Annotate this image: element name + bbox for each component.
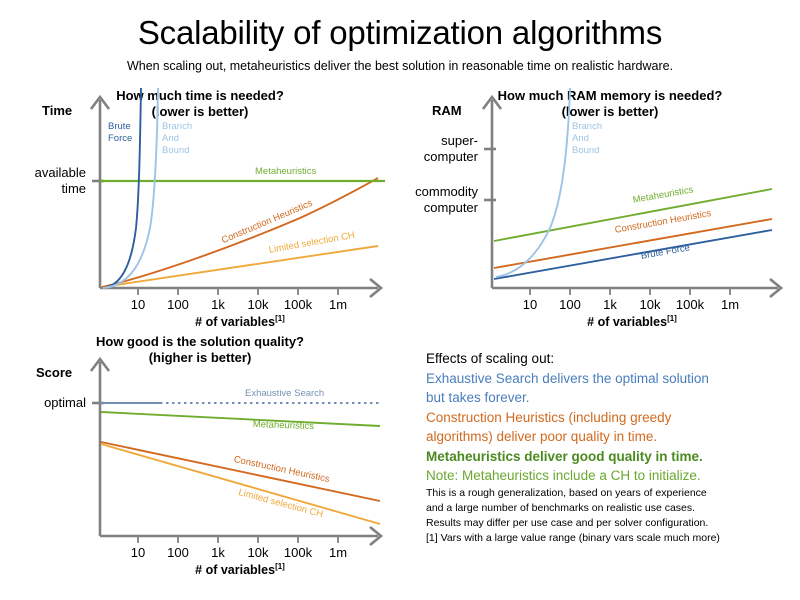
yaxis-title-score: Score [36,365,72,380]
infographic-page: Scalability of optimization algorithms W… [0,0,800,600]
xtick-label-time-1: 100 [167,297,189,312]
xtick-label-ram-0: 10 [523,297,537,312]
notes-disclaimer-line1: This is a rough generalization, based on… [426,486,792,501]
xtick-label-time-3: 10k [248,297,269,312]
page-title: Scalability of optimization algorithms [0,14,800,52]
xtick-label-time-0: 10 [131,297,145,312]
xtick-label-ram-1: 100 [559,297,581,312]
notes-disclaimer-line3: Results may differ per use case and per … [426,516,792,531]
series-label-score-exhaustive-search: Exhaustive Search [245,388,324,399]
xaxis-title-score: # of variables[1] [195,562,285,577]
series-label-ram-branch-and-bound: BranchAndBound [572,121,602,157]
series-label-score-metaheuristics: Metaheuristics [253,419,315,432]
ytick-label-available-time: availabletime [0,165,86,197]
xtick-label-ram-5: 1m [721,297,739,312]
notes-footnote: [1] Vars with a large value range (binar… [426,531,792,546]
chart-panel-time: How much time is needed? (lower is bette… [0,88,400,328]
notes-green-bold: Metaheuristics deliver good quality in t… [426,447,792,467]
xaxis-title-time-footnote: [1] [275,314,285,323]
xaxis-title-ram: # of variables[1] [587,314,677,329]
notes-blue-line1: Exhaustive Search delivers the optimal s… [426,369,792,389]
xtick-label-ram-2: 1k [603,297,617,312]
series-line-score-metaheuristics [101,412,380,426]
series-label-time-brute-force: BruteForce [108,121,132,145]
series-line-ram-brute-force [494,230,772,279]
xaxis-title-score-footnote: [1] [275,562,285,571]
chart-panel-ram: How much RAM memory is needed? (lower is… [400,88,800,328]
chart-panel-score: How good is the solution quality? (highe… [0,334,400,584]
page-subtitle: When scaling out, metaheuristics deliver… [0,59,800,73]
notes-heading: Effects of scaling out: [426,349,792,369]
xtick-label-time-5: 1m [329,297,347,312]
series-label-time-branch-and-bound: BranchAndBound [162,121,192,157]
xtick-label-time-2: 1k [211,297,225,312]
axis-lines-score [91,359,381,545]
notes-blue-line2: but takes forever. [426,388,792,408]
xtick-label-score-5: 1m [329,545,347,560]
series-label-time-metaheuristics: Metaheuristics [255,166,316,177]
yaxis-title-time: Time [42,103,72,118]
chart-canvas-time [0,88,400,328]
xtick-label-time-4: 100k [284,297,312,312]
notes-green-note: Note: Metaheuristics include a CH to ini… [426,466,792,486]
xaxis-title-score-text: # of variables [195,563,275,577]
xtick-label-score-1: 100 [167,545,189,560]
ytick-label-supercomputer: super-computer [394,133,478,165]
notes-orange-line2: algorithms) deliver poor quality in time… [426,427,792,447]
ytick-label-commodity-computer: commoditycomputer [388,184,478,216]
xtick-label-ram-3: 10k [640,297,661,312]
xtick-label-score-0: 10 [131,545,145,560]
xaxis-title-time-text: # of variables [195,315,275,329]
xtick-label-score-3: 10k [248,545,269,560]
series-line-ram-branch-and-bound [496,88,570,277]
notes-panel: Effects of scaling out: Exhaustive Searc… [426,349,792,546]
series-line-brute-force [103,88,141,288]
xtick-label-score-2: 1k [211,545,225,560]
xtick-label-ram-4: 100k [676,297,704,312]
xtick-label-score-4: 100k [284,545,312,560]
xaxis-title-ram-text: # of variables [587,315,667,329]
xaxis-title-ram-footnote: [1] [667,314,677,323]
ytick-label-optimal: optimal [10,395,86,411]
yaxis-title-ram: RAM [432,103,462,118]
notes-disclaimer-line2: and a large number of benchmarks on real… [426,501,792,516]
notes-orange-line1: Construction Heuristics (including greed… [426,408,792,428]
xaxis-title-time: # of variables[1] [195,314,285,329]
